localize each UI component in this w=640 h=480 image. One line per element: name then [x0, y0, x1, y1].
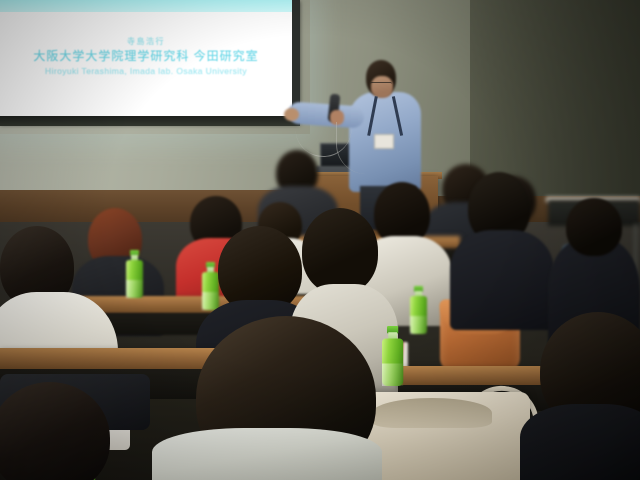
foreground-torso-white-knit [152, 428, 382, 480]
slide-body: 寺島浩行 大阪大学大学院理学研究科 今田研究室 Hiroyuki Terashi… [0, 36, 292, 78]
lecture-hall-photo: Inverted membrane vesicles 寺島浩行 大阪大学大学院理… [0, 0, 640, 480]
audience-head [566, 198, 622, 256]
bottle-body [126, 260, 143, 298]
slide-affiliation-jp: 大阪大学大学院理学研究科 今田研究室 [0, 48, 292, 64]
bottle-body [202, 272, 219, 310]
audience-torso [450, 230, 554, 330]
slide-title-bar [0, 0, 292, 12]
speaker-glasses [370, 82, 392, 88]
projection-screen-frame: Inverted membrane vesicles 寺島浩行 大阪大学大学院理… [0, 0, 300, 124]
right-wall [470, 0, 640, 200]
bottle-label [126, 280, 143, 298]
foreground-torso-right [520, 404, 640, 480]
bottle-body [382, 339, 403, 387]
audience-head [302, 208, 378, 294]
name-badge [374, 134, 394, 149]
screen-bottom-edge [0, 116, 300, 126]
handbag-opening [372, 398, 492, 428]
bottle-label [382, 364, 403, 387]
bottle-label [410, 316, 427, 334]
desk-row-3 [0, 348, 220, 370]
bottle-body [410, 296, 427, 334]
slide-author-jp: 寺島浩行 [0, 36, 292, 48]
slide-affiliation-en: Hiroyuki Terashima, Imada lab. Osaka Uni… [0, 64, 292, 78]
projection-screen: Inverted membrane vesicles 寺島浩行 大阪大学大学院理… [0, 0, 292, 116]
